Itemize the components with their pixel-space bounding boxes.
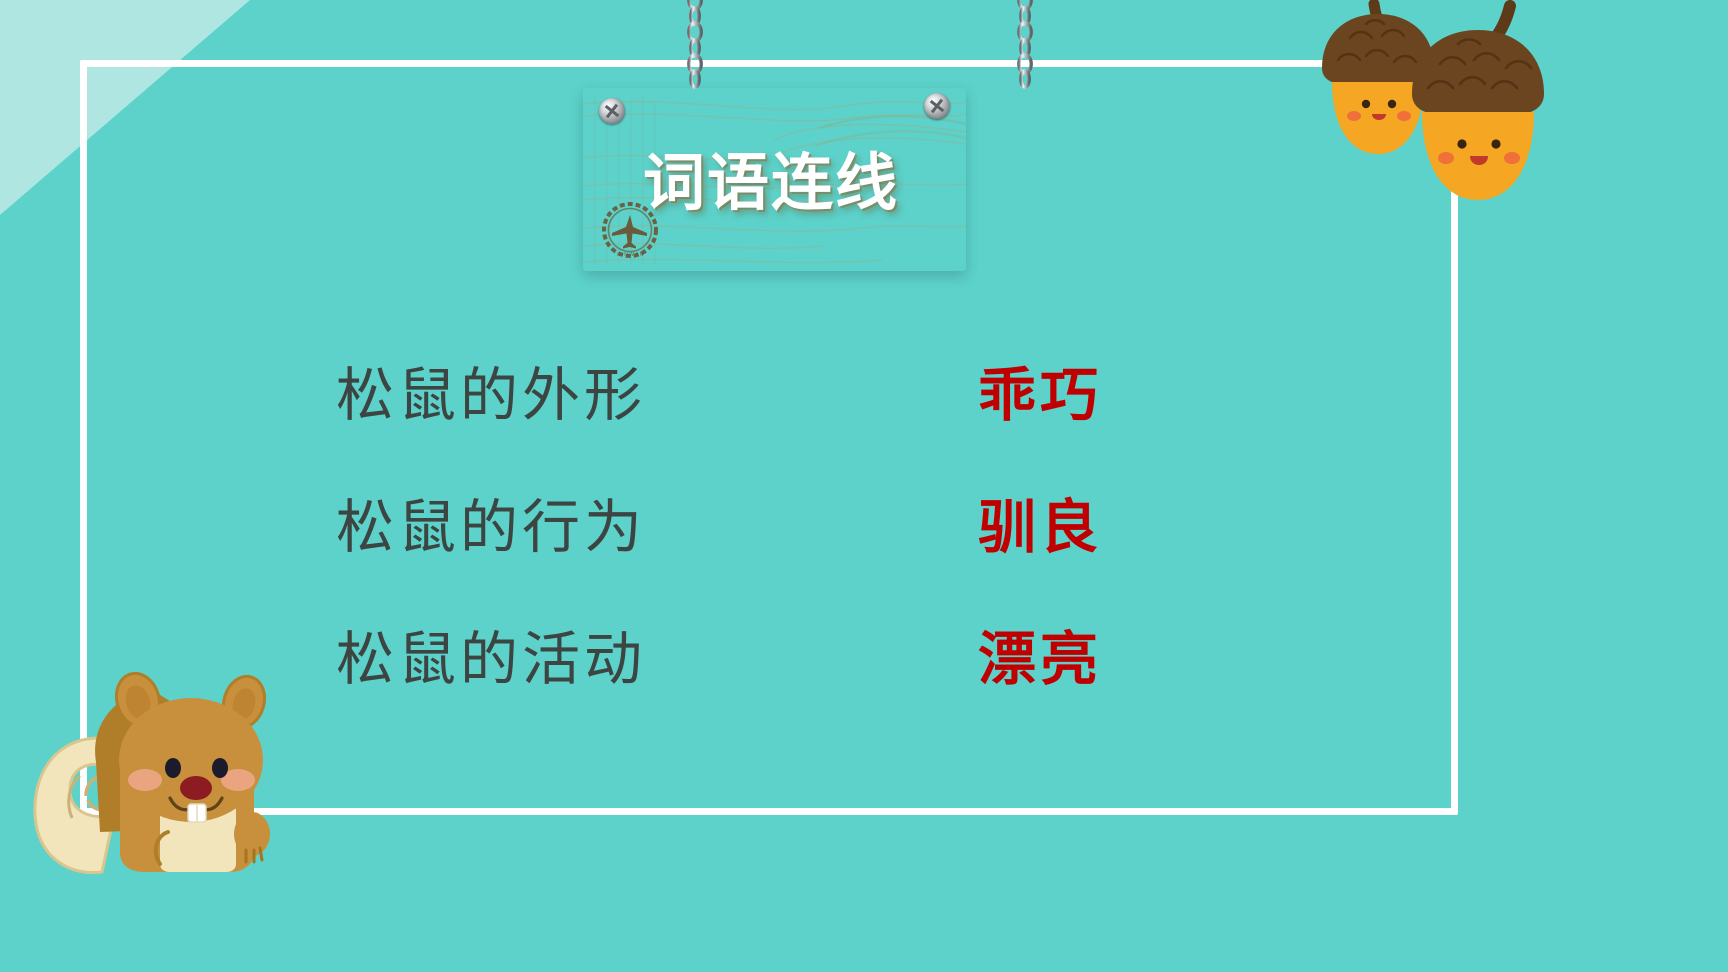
sign-title: 词语连线: [643, 132, 933, 222]
answer-item-2[interactable]: 驯良: [978, 462, 1298, 594]
prompt-item-3[interactable]: 松鼠的活动: [336, 594, 806, 726]
hanging-chain-right-icon: [1014, 0, 1036, 90]
screw-left-icon: [599, 98, 625, 124]
prompt-column: 松鼠的外形 松鼠的行为 松鼠的活动: [336, 330, 806, 726]
answer-item-3[interactable]: 漂亮: [978, 594, 1298, 726]
hanging-chain-left-icon: [684, 0, 706, 90]
acorn-right: [1412, 6, 1544, 200]
prompt-item-1[interactable]: 松鼠的外形: [336, 330, 806, 462]
acorn-characters-icon: [1288, 0, 1548, 209]
slide-canvas: X I N W A N 词语连线 松鼠的外形 松鼠的行为 松鼠的活动 乖巧 驯良…: [0, 0, 1728, 972]
answer-column: 乖巧 驯良 漂亮: [978, 330, 1298, 726]
svg-text:X I N W A N: X I N W A N: [617, 252, 644, 258]
squirrel-mascot-icon: [28, 620, 293, 875]
prompt-item-2[interactable]: 松鼠的行为: [336, 462, 806, 594]
screw-right-icon: [924, 93, 950, 119]
answer-item-1[interactable]: 乖巧: [978, 330, 1298, 462]
